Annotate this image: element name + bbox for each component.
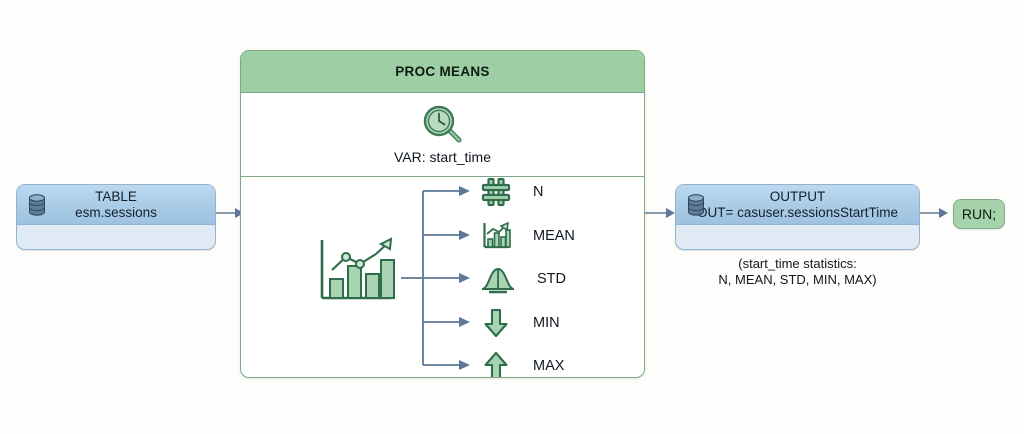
proc-var-label: VAR: start_time bbox=[241, 149, 644, 165]
table-node-body bbox=[17, 225, 215, 250]
stat-label-mean: MEAN bbox=[533, 228, 575, 244]
hash-icon bbox=[481, 177, 511, 207]
output-caption: (start_time statistics: N, MEAN, STD, MI… bbox=[675, 256, 920, 288]
proc-means-header: PROC MEANS bbox=[241, 51, 644, 93]
table-node-title: TABLE esm.sessions bbox=[75, 189, 157, 221]
bar-chart-icon bbox=[481, 221, 511, 251]
stat-label-n: N bbox=[533, 184, 543, 200]
proc-var-section: VAR: start_time bbox=[241, 93, 644, 176]
arrow-down-icon bbox=[481, 308, 511, 338]
connector-proc-to-output bbox=[645, 205, 675, 221]
arrow-up-icon bbox=[481, 351, 511, 378]
stat-label-std: STD bbox=[537, 271, 566, 287]
diagram-canvas: TABLE esm.sessions PROC MEANS bbox=[0, 0, 1024, 434]
connector-output-to-run bbox=[920, 205, 948, 221]
output-node[interactable]: OUTPUT OUT= casuser.sessionsStartTime bbox=[675, 184, 920, 250]
database-icon bbox=[28, 194, 46, 216]
run-node[interactable]: RUN; bbox=[953, 199, 1005, 229]
connector-stats-branch bbox=[401, 177, 476, 377]
proc-means-node[interactable]: PROC MEANS VAR: start_time bbox=[240, 50, 645, 378]
database-icon bbox=[687, 194, 705, 216]
output-node-body bbox=[676, 225, 919, 250]
output-node-header: OUTPUT OUT= casuser.sessionsStartTime bbox=[676, 185, 919, 225]
bell-curve-icon bbox=[481, 264, 515, 294]
stat-label-min: MIN bbox=[533, 315, 560, 331]
stat-row-mean[interactable]: MEAN bbox=[481, 217, 631, 255]
table-node[interactable]: TABLE esm.sessions bbox=[16, 184, 216, 250]
stat-label-max: MAX bbox=[533, 358, 564, 374]
clock-magnifier-icon bbox=[420, 103, 466, 145]
proc-stats-section: N MEAN bbox=[241, 177, 644, 377]
bar-chart-trend-icon bbox=[313, 235, 397, 309]
stat-row-n[interactable]: N bbox=[481, 173, 631, 211]
stat-row-std[interactable]: STD bbox=[481, 260, 631, 298]
stat-row-max[interactable]: MAX bbox=[481, 347, 631, 378]
output-node-title: OUTPUT OUT= casuser.sessionsStartTime bbox=[697, 189, 898, 221]
table-node-header: TABLE esm.sessions bbox=[17, 185, 215, 225]
stat-row-min[interactable]: MIN bbox=[481, 304, 631, 342]
